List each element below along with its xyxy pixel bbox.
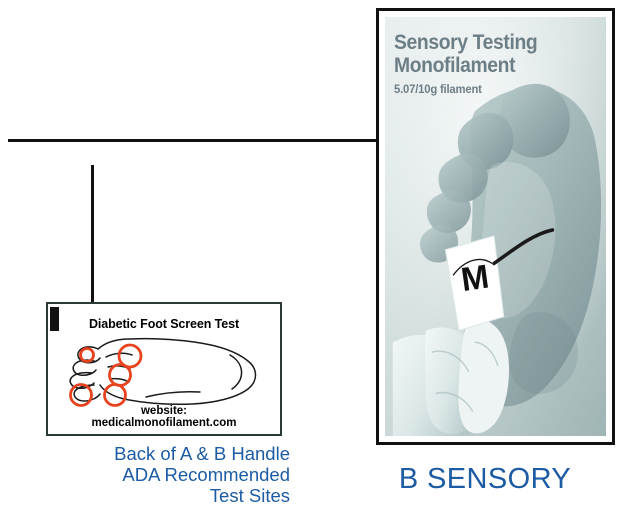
test-site-marker: [110, 365, 131, 386]
card-title: Diabetic Foot Screen Test: [48, 317, 280, 331]
left-caption: Back of A & B Handle ADA Recommended Tes…: [20, 443, 290, 506]
product-photo-frame: M Sensory Testing Monofilament 5.07/10g …: [376, 8, 615, 445]
left-caption-line-2: ADA Recommended: [20, 464, 290, 485]
card-website-url: medicalmonofilament.com: [48, 417, 280, 429]
card-logo-letter: M: [459, 258, 491, 299]
foot-outline-diagram: [54, 335, 274, 407]
product-photo: M Sensory Testing Monofilament 5.07/10g …: [385, 17, 606, 436]
product-heading-line-1: Sensory Testing: [394, 31, 537, 54]
left-caption-line-3: Test Sites: [20, 485, 290, 506]
leader-line-vertical: [91, 165, 94, 305]
test-site-marker: [105, 385, 126, 406]
product-subheading: 5.07/10g filament: [394, 82, 540, 96]
diabetic-foot-screen-card: Diabetic Foot Screen Test: [46, 302, 282, 436]
product-heading-line-2: Monofilament: [394, 54, 537, 77]
leader-line-horizontal: [8, 139, 377, 142]
left-caption-line-1: Back of A & B Handle: [20, 443, 290, 464]
product-heading-block: Sensory Testing Monofilament 5.07/10g fi…: [394, 31, 550, 96]
card-website-label: website:: [48, 405, 280, 417]
right-caption: B SENSORY: [360, 463, 610, 496]
